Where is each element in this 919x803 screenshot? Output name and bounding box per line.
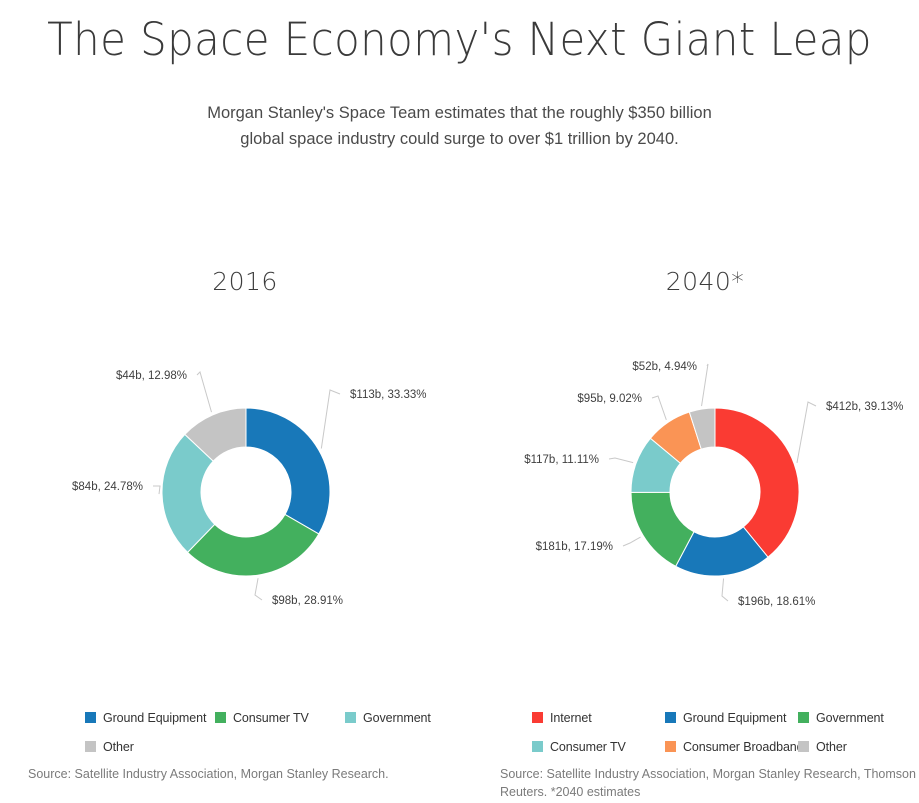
- chart-title-2040: 2040*: [275, 267, 919, 296]
- legend-item[interactable]: Other: [85, 732, 215, 761]
- slice-value-label: $52b, 4.94%: [632, 361, 697, 373]
- header: The Space Economy's Next Giant Leap Morg…: [0, 0, 919, 153]
- slice-value-label: $84b, 24.78%: [72, 481, 143, 493]
- page-subtitle: Morgan Stanley's Space Team estimates th…: [200, 100, 720, 153]
- label-leader-line: [197, 372, 211, 412]
- legend-swatch-icon: [85, 712, 96, 723]
- legend-item[interactable]: Ground Equipment: [665, 703, 798, 732]
- legend-2016: Ground EquipmentConsumer TVGovernmentOth…: [85, 703, 475, 761]
- legend-item[interactable]: Internet: [532, 703, 665, 732]
- source-note-2040: Source: Satellite Industry Association, …: [500, 765, 919, 801]
- legend-2040: InternetGround EquipmentGovernmentConsum…: [532, 703, 919, 761]
- legend-item-label: Consumer TV: [550, 740, 626, 754]
- page-title: The Space Economy's Next Giant Leap: [32, 14, 887, 66]
- label-leader-line: [722, 579, 728, 601]
- legend-item[interactable]: Consumer TV: [532, 732, 665, 761]
- slice-value-label: $98b, 28.91%: [272, 595, 343, 607]
- legend-item[interactable]: Government: [798, 703, 919, 732]
- slice-value-label: $181b, 17.19%: [536, 541, 613, 553]
- label-leader-line: [623, 537, 641, 546]
- legend-swatch-icon: [532, 741, 543, 752]
- label-leader-line: [255, 578, 262, 600]
- legend-swatch-icon: [215, 712, 226, 723]
- legend-item-label: Government: [816, 711, 884, 725]
- legend-item-label: Other: [103, 740, 134, 754]
- legend-item[interactable]: Government: [345, 703, 475, 732]
- legend-swatch-icon: [798, 712, 809, 723]
- legend-item-label: Ground Equipment: [683, 711, 786, 725]
- legend-item[interactable]: Other: [798, 732, 919, 761]
- chart-panel-2040: 2040* $412b, 39.13%$196b, 18.61%$181b, 1…: [490, 245, 919, 803]
- slice-value-label: $196b, 18.61%: [738, 596, 815, 608]
- legend-item-label: Consumer TV: [233, 711, 309, 725]
- donut-slice[interactable]: [246, 408, 330, 534]
- legend-item-label: Consumer Broadband: [683, 740, 804, 754]
- legend-swatch-icon: [665, 712, 676, 723]
- legend-item-label: Government: [363, 711, 431, 725]
- slice-value-label: $412b, 39.13%: [826, 401, 903, 413]
- label-leader-line: [609, 458, 633, 463]
- legend-swatch-icon: [532, 712, 543, 723]
- legend-swatch-icon: [85, 741, 96, 752]
- chart-panel-2016: 2016 $113b, 33.33%$98b, 28.91%$84b, 24.7…: [0, 245, 490, 803]
- donut-chart-2040: $412b, 39.13%$196b, 18.61%$181b, 17.19%$…: [490, 340, 919, 670]
- source-note-2016: Source: Satellite Industry Association, …: [28, 765, 468, 783]
- legend-swatch-icon: [798, 741, 809, 752]
- legend-item-label: Internet: [550, 711, 592, 725]
- legend-swatch-icon: [345, 712, 356, 723]
- slice-value-label: $95b, 9.02%: [577, 393, 642, 405]
- slice-value-label: $44b, 12.98%: [116, 370, 187, 382]
- label-leader-line: [153, 486, 160, 494]
- legend-item-label: Other: [816, 740, 847, 754]
- legend-item-label: Ground Equipment: [103, 711, 206, 725]
- legend-swatch-icon: [665, 741, 676, 752]
- legend-item[interactable]: Consumer TV: [215, 703, 345, 732]
- legend-item[interactable]: Ground Equipment: [85, 703, 215, 732]
- label-leader-line: [797, 402, 816, 463]
- label-leader-line: [652, 396, 666, 420]
- charts-container: 2016 $113b, 33.33%$98b, 28.91%$84b, 24.7…: [0, 245, 919, 803]
- donut-chart-2016: $113b, 33.33%$98b, 28.91%$84b, 24.78%$44…: [0, 340, 490, 670]
- legend-item[interactable]: Consumer Broadband: [665, 732, 798, 761]
- slice-value-label: $117b, 11.11%: [524, 454, 599, 466]
- label-leader-line: [321, 390, 340, 448]
- label-leader-line: [702, 364, 708, 406]
- slice-value-label: $113b, 33.33%: [350, 389, 427, 401]
